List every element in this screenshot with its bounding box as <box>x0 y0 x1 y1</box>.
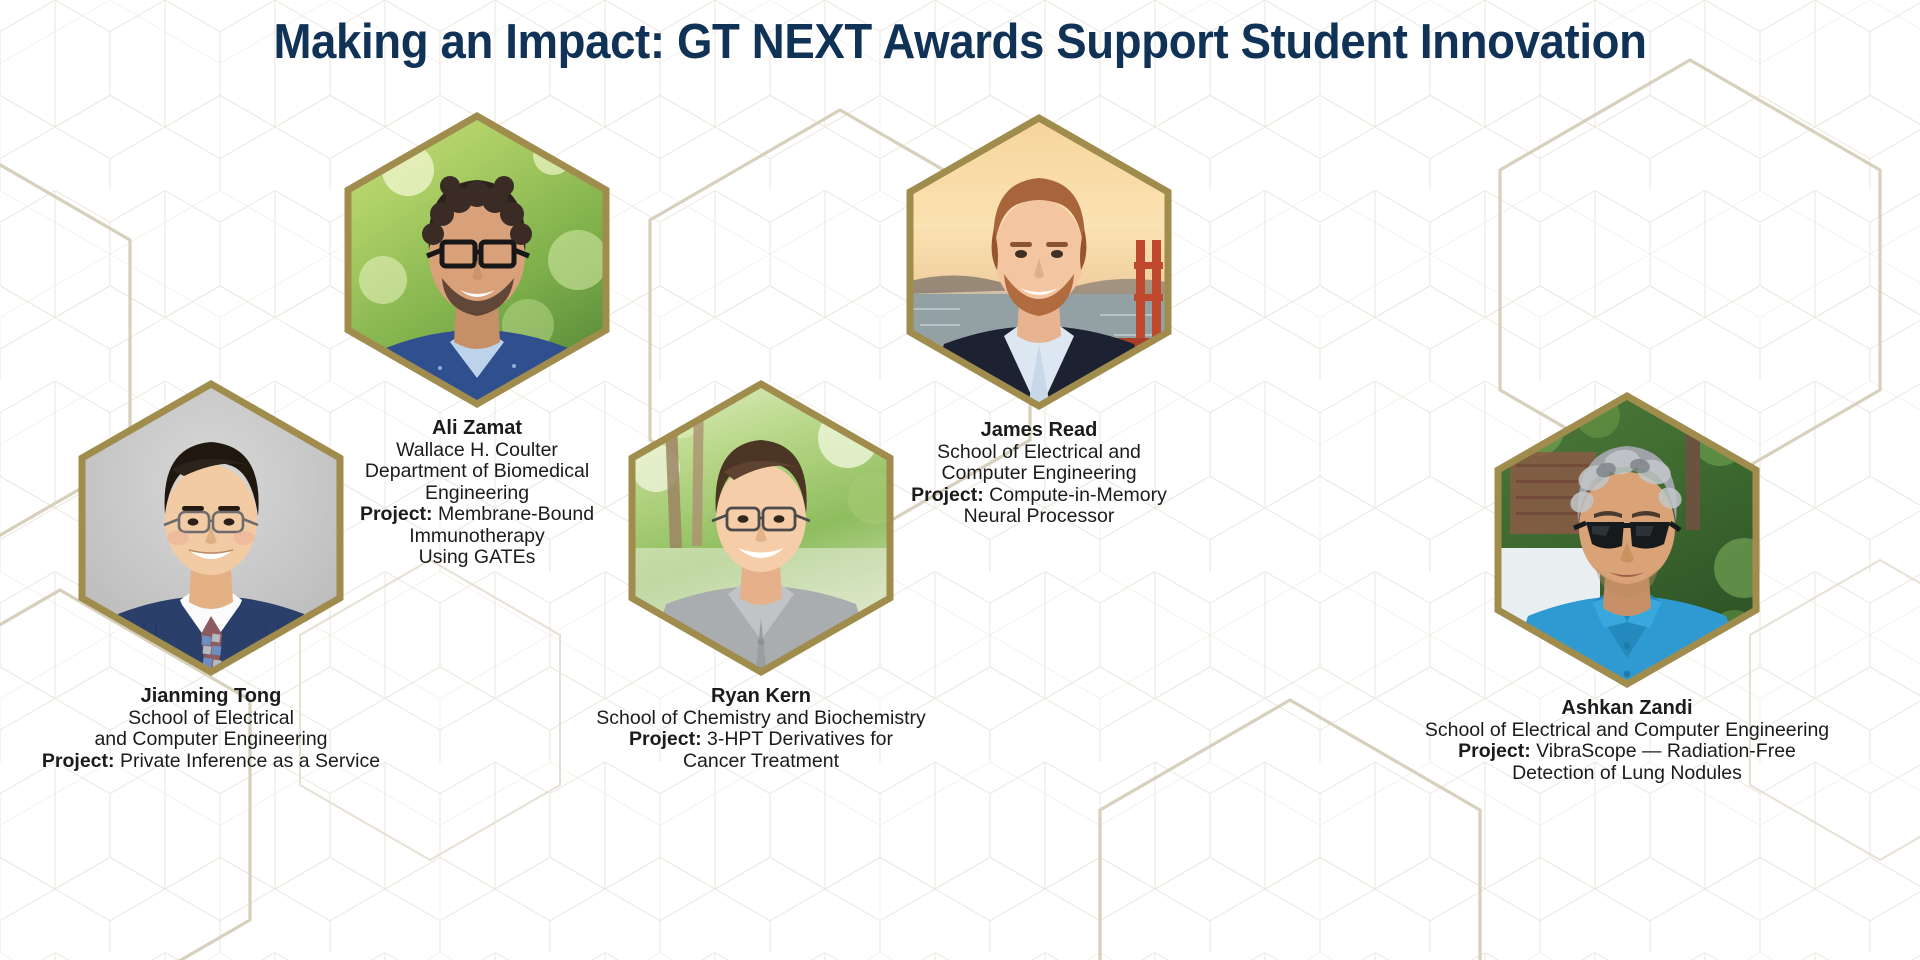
project-label: Project: <box>629 728 702 750</box>
portrait-hexagon-ali-zamat <box>338 110 616 410</box>
project-text: Membrane-Bound <box>438 503 594 525</box>
person-card-ali-zamat: Ali Zamat Wallace H. Coulter Department … <box>338 110 616 410</box>
project-text: Private Inference as a Service <box>120 750 380 772</box>
person-project-line: Cancer Treatment <box>481 751 1041 773</box>
caption-ashkan-zandi: Ashkan Zandi School of Electrical and Co… <box>1307 698 1920 784</box>
person-name: Ashkan Zandi <box>1307 698 1920 720</box>
person-project-line: Project: Private Inference as a Service <box>0 751 471 773</box>
project-label: Project: <box>42 750 115 772</box>
person-affiliation-line: School of Electrical <box>0 708 471 730</box>
project-label: Project: <box>911 484 984 506</box>
portrait-hexagon-jianming-tong <box>72 378 350 678</box>
person-affiliation-line: School of Chemistry and Biochemistry <box>481 708 1041 730</box>
portrait-hexagon-james-read <box>900 112 1178 412</box>
caption-jianming-tong: Jianming Tong School of Electrical and C… <box>0 686 471 772</box>
person-card-ryan-kern: Ryan Kern School of Chemistry and Bioche… <box>622 378 900 678</box>
caption-ryan-kern: Ryan Kern School of Chemistry and Bioche… <box>481 686 1041 772</box>
page-title: Making an Impact: GT NEXT Awards Support… <box>67 14 1853 70</box>
project-label: Project: <box>1458 740 1531 762</box>
person-project-line: Project: 3-HPT Derivatives for <box>481 729 1041 751</box>
person-card-jianming-tong: Jianming Tong School of Electrical and C… <box>72 378 350 678</box>
project-label: Project: <box>360 503 433 525</box>
poster-stage: Making an Impact: GT NEXT Awards Support… <box>0 0 1920 960</box>
person-affiliation-line: and Computer Engineering <box>0 729 471 751</box>
person-card-james-read: James Read School of Electrical and Comp… <box>900 112 1178 412</box>
person-project-line: Project: VibraScope — Radiation-Free <box>1307 741 1920 763</box>
project-text: Compute-in-Memory <box>989 484 1167 506</box>
person-affiliation-line: School of Electrical and Computer Engine… <box>1307 720 1920 742</box>
portrait-hexagon-ashkan-zandi <box>1488 390 1766 690</box>
project-text: VibraScope — Radiation-Free <box>1536 740 1796 762</box>
person-project-line: Detection of Lung Nodules <box>1307 763 1920 785</box>
person-card-ashkan-zandi: Ashkan Zandi School of Electrical and Co… <box>1488 390 1766 690</box>
person-name: Jianming Tong <box>0 686 471 708</box>
portrait-hexagon-ryan-kern <box>622 378 900 678</box>
project-text: 3-HPT Derivatives for <box>707 728 893 750</box>
person-name: Ryan Kern <box>481 686 1041 708</box>
